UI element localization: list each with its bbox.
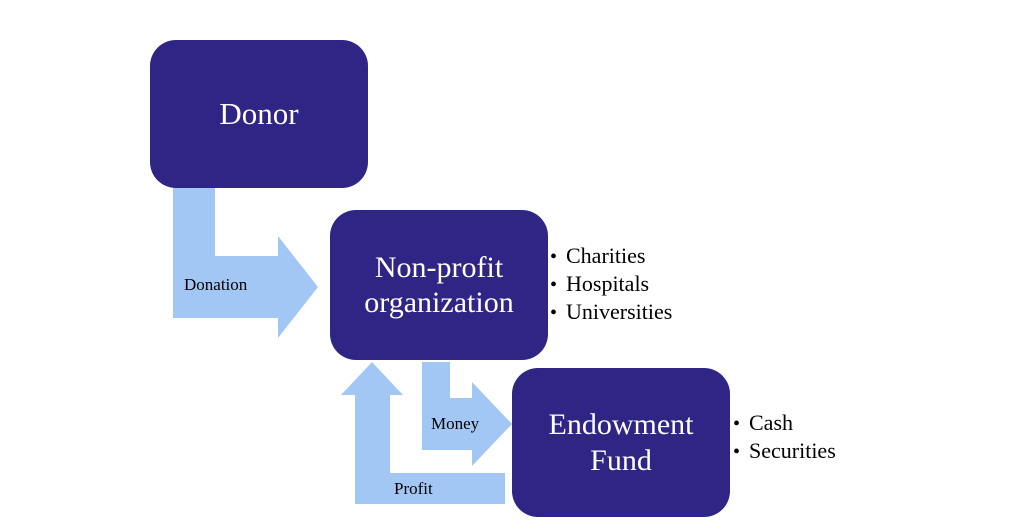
bullet-icon: •	[550, 247, 566, 267]
list-item-label: Cash	[749, 410, 793, 436]
list-item: • Charities	[550, 243, 672, 271]
arrow-label-money: Money	[431, 415, 479, 432]
node-endowment[interactable]: Endowment Fund	[512, 368, 730, 517]
list-item-label: Universities	[566, 299, 672, 325]
list-item: • Securities	[733, 438, 836, 466]
node-nonprofit[interactable]: Non-profit organization	[330, 210, 548, 360]
list-item: • Hospitals	[550, 271, 672, 299]
node-endowment-label: Endowment Fund	[539, 407, 704, 478]
list-item-label: Charities	[566, 243, 645, 269]
list-item-label: Securities	[749, 438, 836, 464]
nonprofit-examples-list: • Charities • Hospitals • Universities	[550, 243, 672, 327]
node-donor[interactable]: Donor	[150, 40, 368, 188]
bullet-icon: •	[550, 303, 566, 323]
list-item-label: Hospitals	[566, 271, 649, 297]
diagram-canvas: Donation Money Profit Donor Non-profit o…	[0, 0, 1024, 522]
list-item: • Universities	[550, 299, 672, 327]
endowment-examples-list: • Cash • Securities	[733, 410, 836, 466]
donation-arrow	[173, 188, 318, 338]
arrow-label-donation: Donation	[184, 276, 247, 293]
node-donor-label: Donor	[209, 96, 308, 133]
arrow-label-profit: Profit	[394, 480, 433, 497]
bullet-icon: •	[550, 275, 566, 295]
bullet-icon: •	[733, 414, 749, 434]
bullet-icon: •	[733, 442, 749, 462]
node-nonprofit-label: Non-profit organization	[354, 250, 523, 321]
list-item: • Cash	[733, 410, 836, 438]
